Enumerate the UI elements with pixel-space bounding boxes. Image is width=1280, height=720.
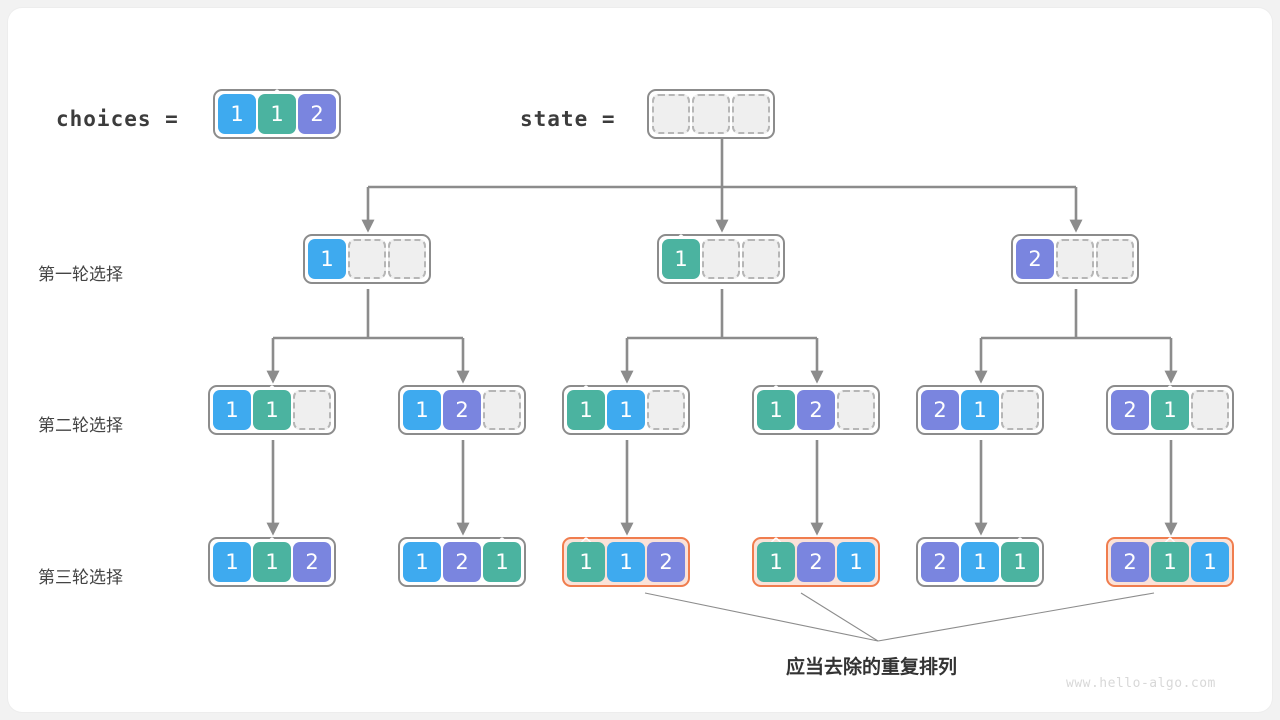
- array-cell-empty: [348, 239, 386, 279]
- array-cell-empty: [1191, 390, 1229, 430]
- tree-node-duplicate: 1^21: [752, 537, 880, 587]
- cell-value: 1^: [769, 400, 782, 421]
- array-cell: 1^: [1001, 542, 1039, 582]
- tree-node: 12: [398, 385, 526, 435]
- array-cell: 1^: [662, 239, 700, 279]
- array-cell: 1: [607, 390, 645, 430]
- caret-icon: ^: [265, 385, 279, 402]
- connector-layer: [8, 8, 1272, 712]
- array-cell: 2: [1111, 390, 1149, 430]
- cell-value: 1: [225, 400, 238, 421]
- watermark: www.hello-algo.com: [1066, 676, 1216, 691]
- array-cell-empty: [742, 239, 780, 279]
- cell-value: 1^: [1163, 400, 1176, 421]
- array-cell: 2: [1111, 542, 1149, 582]
- tree-node: 211^: [916, 537, 1044, 587]
- cell-value: 2: [310, 104, 323, 125]
- tree-node-duplicate: 1^12: [562, 537, 690, 587]
- array-cell: 1: [213, 542, 251, 582]
- cell-value: 1: [619, 400, 632, 421]
- cell-value: 1^: [579, 400, 592, 421]
- array-cell: 1: [308, 239, 346, 279]
- cell-value: 1: [619, 552, 632, 573]
- array-cell-empty: [1096, 239, 1134, 279]
- array-cell-empty: [837, 390, 875, 430]
- state-array: [647, 89, 775, 139]
- array-cell: 2: [293, 542, 331, 582]
- cell-value: 1^: [265, 552, 278, 573]
- cell-value: 1: [849, 552, 862, 573]
- root-connectors: [368, 136, 1076, 230]
- array-cell: 2: [298, 94, 336, 134]
- array-cell: 1: [213, 390, 251, 430]
- row-label-3: 第三轮选择: [38, 563, 123, 588]
- cell-value: 1: [230, 104, 243, 125]
- level2-connectors: [273, 440, 1171, 533]
- cell-value: 1^: [769, 552, 782, 573]
- array-cell: 1^: [253, 542, 291, 582]
- diagram-card: choices = 11^2 state = 第一轮选择11^2第二轮选择11^…: [8, 8, 1272, 712]
- array-cell: 1^: [757, 390, 795, 430]
- cell-value: 2: [809, 400, 822, 421]
- cell-value: 1^: [579, 552, 592, 573]
- caret-icon: ^: [769, 537, 783, 554]
- cell-value: 2: [933, 552, 946, 573]
- tree-node: 1^: [657, 234, 785, 284]
- tree-node: 121^: [398, 537, 526, 587]
- cell-value: 1: [973, 552, 986, 573]
- cell-value: 1: [973, 400, 986, 421]
- array-cell-empty: [702, 239, 740, 279]
- cell-value: 1: [320, 249, 333, 270]
- array-cell: 2: [1016, 239, 1054, 279]
- array-cell: 1: [403, 390, 441, 430]
- cell-value: 1: [1203, 552, 1216, 573]
- cell-value: 1^: [265, 400, 278, 421]
- array-cell: 2: [647, 542, 685, 582]
- cell-value: 1^: [495, 552, 508, 573]
- choices-label: choices =: [56, 107, 179, 131]
- cell-value: 2: [1123, 552, 1136, 573]
- array-cell: 2: [443, 390, 481, 430]
- cell-value: 2: [933, 400, 946, 421]
- array-cell-empty: [652, 94, 690, 134]
- array-cell: 1^: [483, 542, 521, 582]
- array-cell: 1^: [567, 542, 605, 582]
- tree-node: 1^1: [562, 385, 690, 435]
- caret-icon: ^: [270, 89, 284, 106]
- cell-value: 2: [659, 552, 672, 573]
- cell-value: 2: [455, 400, 468, 421]
- row-label-1: 第一轮选择: [38, 260, 123, 285]
- array-cell: 1^: [253, 390, 291, 430]
- caret-icon: ^: [579, 385, 593, 402]
- array-cell-empty: [388, 239, 426, 279]
- cell-value: 2: [305, 552, 318, 573]
- array-cell: 2: [443, 542, 481, 582]
- tree-node-duplicate: 21^1: [1106, 537, 1234, 587]
- cell-value: 1: [415, 552, 428, 573]
- cell-value: 1^: [674, 249, 687, 270]
- array-cell-empty: [1001, 390, 1039, 430]
- array-cell: 1: [403, 542, 441, 582]
- caret-icon: ^: [265, 537, 279, 554]
- cell-value: 2: [455, 552, 468, 573]
- tree-node: 1: [303, 234, 431, 284]
- array-cell: 1^: [757, 542, 795, 582]
- array-cell: 2: [797, 542, 835, 582]
- caret-icon: ^: [1163, 385, 1177, 402]
- array-cell: 1: [1191, 542, 1229, 582]
- array-cell: 1^: [1151, 390, 1189, 430]
- annotation-pointers: [645, 593, 1154, 641]
- row-label-2: 第二轮选择: [38, 411, 123, 436]
- array-cell-empty: [692, 94, 730, 134]
- array-cell: 1: [961, 542, 999, 582]
- tree-node: 11^: [208, 385, 336, 435]
- array-cell-empty: [732, 94, 770, 134]
- cell-value: 1^: [270, 104, 283, 125]
- tree-node: 1^2: [752, 385, 880, 435]
- cell-value: 2: [1123, 400, 1136, 421]
- array-cell: 1: [607, 542, 645, 582]
- array-cell: 2: [797, 390, 835, 430]
- array-cell: 1^: [258, 94, 296, 134]
- cell-value: 1: [415, 400, 428, 421]
- array-cell-empty: [1056, 239, 1094, 279]
- tree-node: 2: [1011, 234, 1139, 284]
- caret-icon: ^: [769, 385, 783, 402]
- array-cell: 1: [837, 542, 875, 582]
- caret-icon: ^: [579, 537, 593, 554]
- state-label: state =: [520, 107, 616, 131]
- array-cell: 1: [218, 94, 256, 134]
- array-cell: 2: [921, 390, 959, 430]
- cell-value: 2: [1028, 249, 1041, 270]
- array-cell-empty: [293, 390, 331, 430]
- cell-value: 1^: [1013, 552, 1026, 573]
- array-cell: 1: [961, 390, 999, 430]
- tree-node: 11^2: [208, 537, 336, 587]
- caret-icon: ^: [1163, 537, 1177, 554]
- caret-icon: ^: [495, 537, 509, 554]
- cell-value: 2: [809, 552, 822, 573]
- array-cell: 2: [921, 542, 959, 582]
- array-cell: 1^: [567, 390, 605, 430]
- tree-node: 21: [916, 385, 1044, 435]
- caret-icon: ^: [1013, 537, 1027, 554]
- choices-array: 11^2: [213, 89, 341, 139]
- array-cell-empty: [647, 390, 685, 430]
- duplicate-annotation: 应当去除的重复排列: [786, 652, 957, 679]
- array-cell: 1^: [1151, 542, 1189, 582]
- cell-value: 1: [225, 552, 238, 573]
- level1-connectors: [273, 289, 1171, 381]
- caret-icon: ^: [674, 234, 688, 251]
- tree-node: 21^: [1106, 385, 1234, 435]
- array-cell-empty: [483, 390, 521, 430]
- cell-value: 1^: [1163, 552, 1176, 573]
